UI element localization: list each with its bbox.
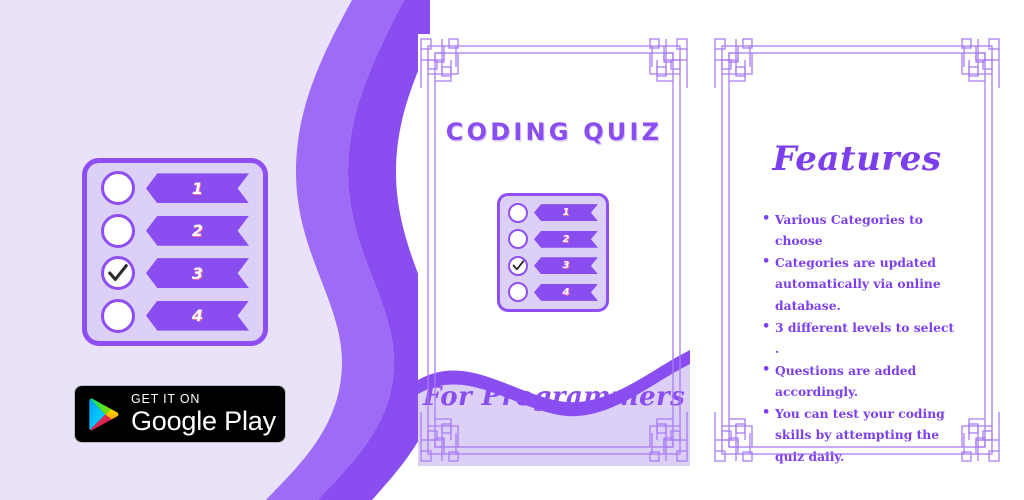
quiz-option-row[interactable]: 4 — [87, 299, 263, 333]
quiz-option-number: 4 — [192, 306, 203, 325]
google-play-badge[interactable]: GET IT ON Google Play — [74, 385, 286, 443]
google-play-label: Google Play — [131, 408, 276, 435]
quiz-option-row[interactable]: 1 — [87, 171, 263, 205]
coding-quiz-card: CODING QUIZ 1 — [418, 34, 690, 466]
quiz-option-ribbon-1[interactable]: 1 — [146, 173, 249, 203]
quiz-preview-widget-large[interactable]: 1 2 — [82, 158, 268, 346]
get-it-on-label: GET IT ON — [131, 393, 276, 406]
quiz-option-ribbon-2[interactable]: 2 — [146, 216, 249, 246]
features-card: Features Various Categories to choose Ca… — [712, 34, 1002, 466]
corner-fret-ornament-icon — [418, 34, 690, 466]
quiz-option-ribbon-4[interactable]: 4 — [146, 301, 249, 331]
quiz-option-row[interactable]: 2 — [87, 214, 263, 248]
left-promo-panel: 1 2 — [0, 0, 430, 500]
quiz-option-number: 3 — [192, 264, 203, 283]
quiz-option-list: 1 2 — [87, 163, 263, 341]
quiz-option-number: 1 — [192, 179, 203, 198]
corner-fret-ornament-icon — [712, 34, 1002, 466]
radio-option-1[interactable] — [101, 171, 135, 205]
feature-graphic-canvas: 1 2 — [0, 0, 1024, 500]
check-icon — [107, 262, 129, 284]
quiz-option-row[interactable]: 3 — [87, 256, 263, 290]
quiz-option-number: 2 — [192, 221, 203, 240]
google-play-label-group: GET IT ON Google Play — [131, 393, 276, 436]
quiz-option-ribbon-3[interactable]: 3 — [146, 258, 249, 288]
radio-option-2[interactable] — [101, 214, 135, 248]
radio-option-4[interactable] — [101, 299, 135, 333]
radio-option-3[interactable] — [101, 256, 135, 290]
google-play-triangle-icon — [89, 398, 119, 431]
